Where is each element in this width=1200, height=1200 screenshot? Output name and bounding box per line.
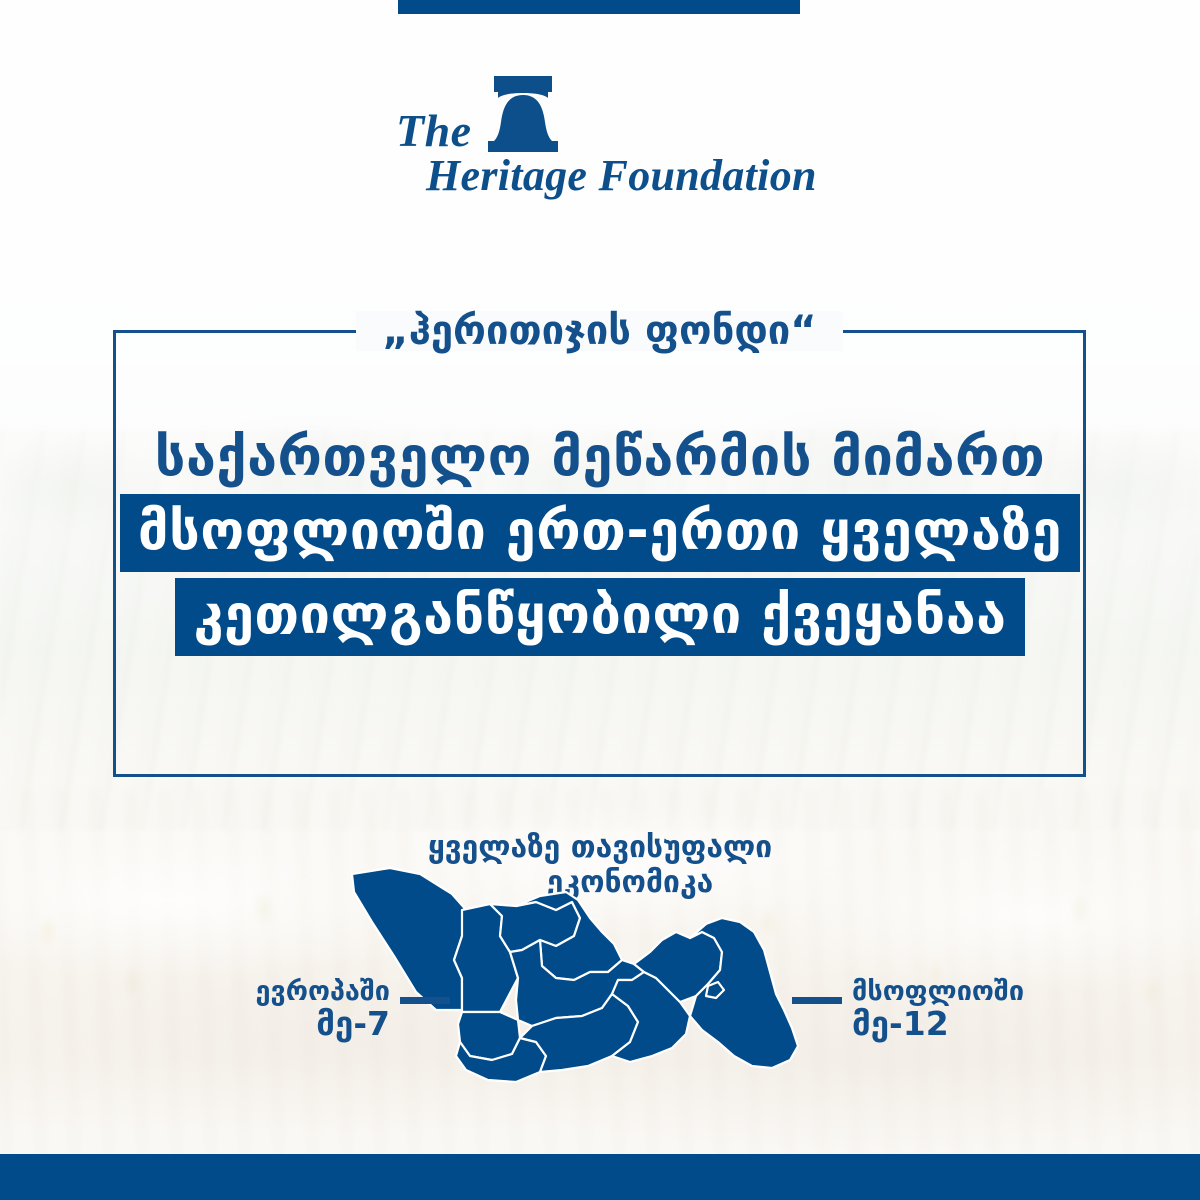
eyebrow-rule-right	[843, 330, 1015, 333]
georgia-map-icon	[350, 860, 850, 1130]
liberty-bell-icon	[478, 74, 568, 158]
headline-line-2: მსოფლიოში ერთ-ერთი ყველაზე	[0, 494, 1200, 572]
heritage-foundation-logo: The Heritage Foundation	[0, 70, 1200, 200]
logo-name-text: Heritage Foundation	[426, 150, 817, 201]
stat-europe-value: მე-7	[150, 1007, 390, 1042]
bottom-accent-bar	[0, 1154, 1200, 1200]
stat-world: მსოფლიოში მე-12	[852, 978, 1102, 1042]
headline-line-1: საქართველო მეწარმის მიმართ	[0, 424, 1200, 494]
eyebrow-row: „ჰერითიჯის ფონდი“	[113, 313, 1086, 349]
headline-block: საქართველო მეწარმის მიმართ მსოფლიოში ერთ…	[0, 424, 1200, 656]
eyebrow-label: „ჰერითიჯის ფონდი“	[356, 311, 842, 351]
eyebrow-rule-left	[184, 330, 356, 333]
stat-europe: ევროპაში მე-7	[150, 978, 390, 1042]
top-accent-bar	[398, 0, 800, 14]
headline-line-2-text: მსოფლიოში ერთ-ერთი ყველაზე	[120, 494, 1080, 572]
stat-world-label: მსოფლიოში	[852, 978, 1102, 1007]
headline-line-3: კეთილგანწყობილი ქვეყანაა	[0, 578, 1200, 656]
stat-europe-label: ევროპაში	[150, 978, 390, 1007]
stat-dash-right	[792, 997, 842, 1004]
headline-line-3-text: კეთილგანწყობილი ქვეყანაა	[175, 578, 1024, 656]
stat-dash-left	[400, 997, 450, 1004]
stat-world-value: მე-12	[852, 1007, 1102, 1042]
